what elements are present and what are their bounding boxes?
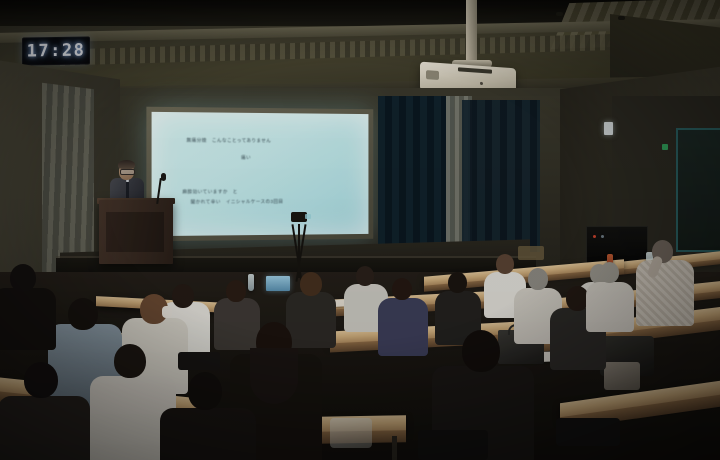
stage-box-prop: [518, 246, 544, 260]
projector-indicator-icon: [480, 82, 483, 85]
slide-line-1: 無痛分娩 こんなことってありません: [186, 138, 271, 145]
chair: [556, 418, 620, 446]
presenter-tie: [126, 182, 129, 198]
plastic-bag: [330, 418, 372, 448]
track-light-icon: [556, 12, 563, 16]
camera-screen-icon: [305, 214, 311, 219]
long-hair: [250, 348, 298, 404]
stage-curtain-dark-right: [462, 100, 540, 252]
projector-mount-pole: [466, 0, 477, 66]
track-light-icon: [618, 16, 625, 20]
wall-speaker-icon: [604, 122, 613, 135]
laptop: [266, 276, 290, 291]
slide-line-4: 聞かれて辛い イニシャルケースの3回目: [191, 199, 284, 205]
projector-lens-icon: [426, 70, 439, 80]
projector-vent: [458, 67, 492, 73]
stage-curtain-dark: [378, 96, 454, 262]
desk-leg: [392, 436, 397, 460]
lecture-hall-photo: 17:28 無痛分娩 こんなことってありません 痛い 麻酔効いていますか と 聞…: [0, 0, 720, 460]
chair: [418, 430, 488, 460]
podium-front-panel: [106, 212, 164, 252]
tripod-leg: [298, 224, 300, 278]
clock-time-text: 17:28: [27, 40, 86, 61]
handbag: [604, 362, 640, 390]
slide-line-2: 痛い: [241, 155, 251, 161]
av-rack-led-icon: [593, 235, 596, 238]
microphone-icon: [161, 173, 166, 181]
doorway-frame: [676, 128, 720, 252]
presenter-hair: [118, 160, 135, 169]
chair: [178, 352, 220, 370]
projection-screen: 無痛分娩 こんなことってありません 痛い 麻酔効いていますか と 聞かれて辛い …: [152, 112, 369, 236]
slide-line-3: 麻酔効いていますか と: [182, 189, 237, 195]
water-bottle: [248, 274, 254, 291]
wall-clock: 17:28: [22, 36, 90, 65]
presenter-glasses-icon: [120, 169, 135, 175]
av-rack-led-icon: [601, 235, 604, 238]
exit-light-icon: [662, 144, 668, 150]
projection-screen-frame: 無痛分娩 こんなことってありません 痛い 麻酔効いていますか と 聞かれて辛い …: [146, 107, 373, 242]
hand: [162, 306, 172, 318]
